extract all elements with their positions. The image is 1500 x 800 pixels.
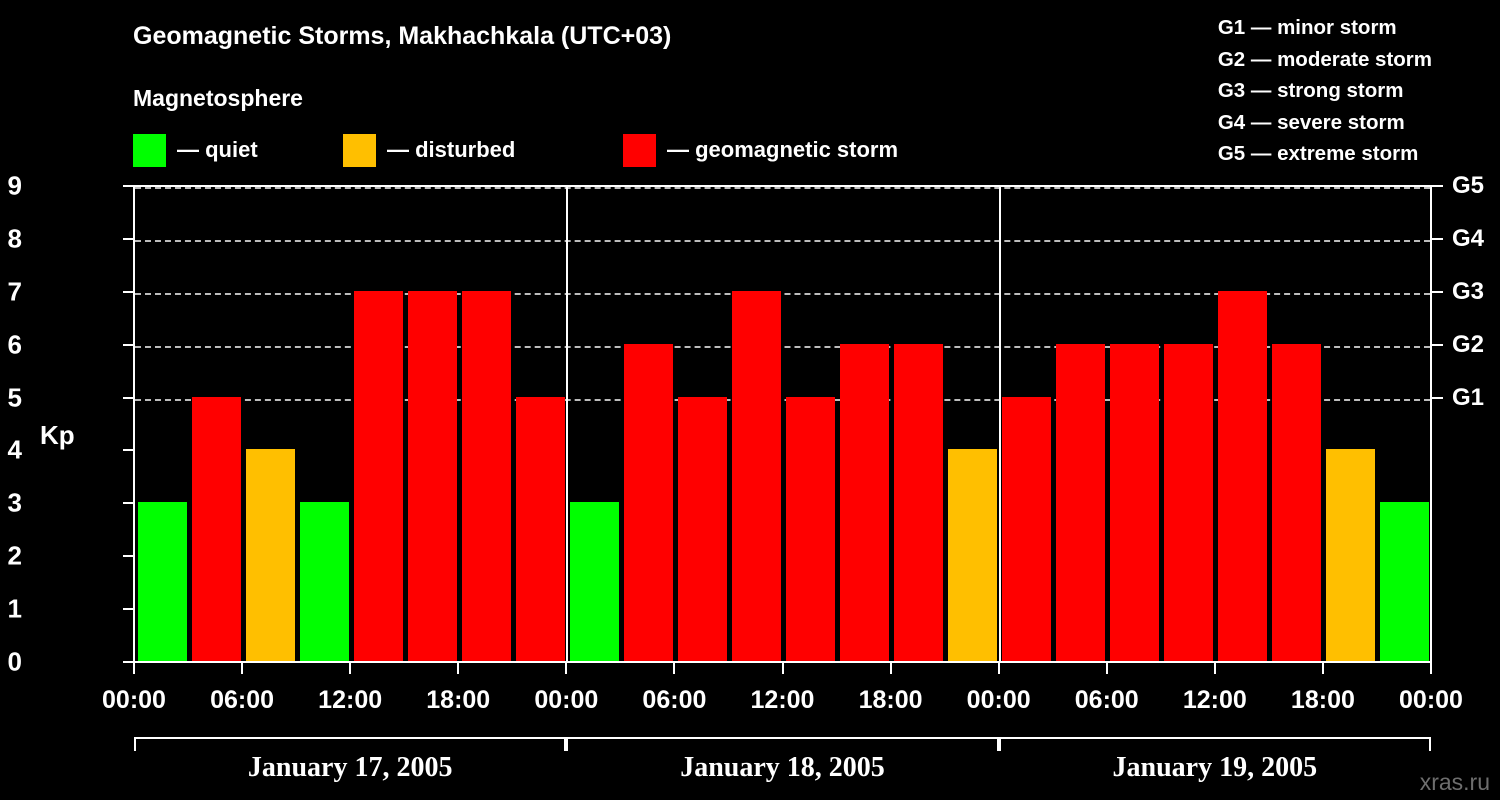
g-tick-mark-G4 — [1432, 238, 1443, 240]
y-tick-mark-5 — [123, 397, 133, 399]
y-tick-mark-9 — [123, 185, 133, 187]
x-tick-mark-7 — [890, 663, 892, 674]
y-tick-label-5: 5 — [0, 382, 22, 413]
g-tick-label-G5: G5 — [1452, 172, 1484, 200]
watermark: xras.ru — [1420, 769, 1490, 796]
x-tick-label-1: 06:00 — [210, 686, 274, 715]
x-tick-label-5: 06:00 — [642, 686, 706, 715]
bar-day3-slot8 — [1380, 502, 1429, 661]
legend-item-storm: — geomagnetic storm — [623, 131, 898, 169]
bar-day1-slot6 — [408, 291, 457, 661]
plot-area — [133, 185, 1432, 663]
bar-day3-slot6 — [1272, 344, 1321, 661]
g-tick-mark-G5 — [1432, 185, 1443, 187]
page-title: Geomagnetic Storms, Makhachkala (UTC+03) — [133, 22, 671, 51]
y-tick-label-9: 9 — [0, 171, 22, 202]
bar-day1-slot5 — [354, 291, 403, 661]
date-label-3: January 19, 2005 — [999, 752, 1431, 784]
bar-day2-slot8 — [948, 449, 997, 661]
bar-day2-slot4 — [732, 291, 781, 661]
x-tick-label-7: 18:00 — [859, 686, 923, 715]
bar-day3-slot5 — [1218, 291, 1267, 661]
x-tick-mark-3 — [457, 663, 459, 674]
legend-swatch-storm-icon — [623, 134, 656, 167]
y-tick-label-0: 0 — [0, 647, 22, 678]
gscale-line-1: G1 — minor storm — [1218, 12, 1432, 44]
g-tick-mark-G3 — [1432, 291, 1443, 293]
y-tick-mark-6 — [123, 344, 133, 346]
date-bracket-3 — [999, 737, 1431, 751]
bar-day3-slot7 — [1326, 449, 1375, 661]
x-tick-mark-11 — [1322, 663, 1324, 674]
g-tick-label-G1: G1 — [1452, 384, 1484, 412]
date-bracket-2 — [566, 737, 998, 751]
x-tick-mark-10 — [1214, 663, 1216, 674]
g-tick-label-G4: G4 — [1452, 225, 1484, 253]
bar-day1-slot8 — [516, 397, 565, 661]
gscale-line-3: G3 — strong storm — [1218, 75, 1432, 107]
y-tick-label-3: 3 — [0, 488, 22, 519]
y-tick-mark-7 — [123, 291, 133, 293]
y-tick-mark-8 — [123, 238, 133, 240]
x-tick-label-9: 06:00 — [1075, 686, 1139, 715]
y-tick-label-1: 1 — [0, 594, 22, 625]
gscale-line-5: G5 — extreme storm — [1218, 138, 1432, 170]
x-tick-mark-5 — [673, 663, 675, 674]
x-tick-label-3: 18:00 — [426, 686, 490, 715]
bar-day2-slot2 — [624, 344, 673, 661]
x-tick-mark-12 — [1430, 663, 1432, 674]
bar-day2-slot5 — [786, 397, 835, 661]
geomagnetic-storm-chart: Geomagnetic Storms, Makhachkala (UTC+03)… — [0, 0, 1500, 800]
gscale-legend: G1 — minor stormG2 — moderate stormG3 — … — [1218, 12, 1432, 170]
y-tick-mark-2 — [123, 555, 133, 557]
x-tick-mark-0 — [133, 663, 135, 674]
bar-day1-slot1 — [138, 502, 187, 661]
y-tick-mark-3 — [123, 502, 133, 504]
legend-label-quiet: — quiet — [177, 137, 258, 163]
bar-day1-slot3 — [246, 449, 295, 661]
x-tick-label-10: 12:00 — [1183, 686, 1247, 715]
day-divider-1 — [566, 187, 568, 661]
y-tick-mark-1 — [123, 608, 133, 610]
bar-day3-slot3 — [1110, 344, 1159, 661]
legend-heading: Magnetosphere — [133, 85, 303, 112]
x-tick-label-8: 00:00 — [967, 686, 1031, 715]
legend-label-storm: — geomagnetic storm — [667, 137, 898, 163]
x-tick-label-0: 00:00 — [102, 686, 166, 715]
legend-label-disturbed: — disturbed — [387, 137, 515, 163]
y-axis-title: Kp — [40, 420, 75, 451]
y-tick-label-8: 8 — [0, 223, 22, 254]
legend-swatch-disturbed-icon — [343, 134, 376, 167]
bar-day3-slot2 — [1056, 344, 1105, 661]
y-tick-label-6: 6 — [0, 329, 22, 360]
bar-day2-slot7 — [894, 344, 943, 661]
date-label-2: January 18, 2005 — [566, 752, 998, 784]
gscale-line-2: G2 — moderate storm — [1218, 44, 1432, 76]
bar-day1-slot7 — [462, 291, 511, 661]
x-tick-mark-9 — [1106, 663, 1108, 674]
bar-day1-slot4 — [300, 502, 349, 661]
bar-day2-slot6 — [840, 344, 889, 661]
g-tick-label-G2: G2 — [1452, 331, 1484, 359]
x-tick-label-4: 00:00 — [534, 686, 598, 715]
legend-item-quiet: — quiet — [133, 131, 258, 169]
g-tick-mark-G1 — [1432, 397, 1443, 399]
day-divider-2 — [999, 187, 1001, 661]
x-tick-label-2: 12:00 — [318, 686, 382, 715]
date-bracket-1 — [134, 737, 566, 751]
legend-item-disturbed: — disturbed — [343, 131, 515, 169]
gridline-kp-8 — [135, 240, 1430, 242]
x-tick-label-12: 00:00 — [1399, 686, 1463, 715]
legend-swatch-quiet-icon — [133, 134, 166, 167]
y-tick-mark-4 — [123, 449, 133, 451]
gscale-line-4: G4 — severe storm — [1218, 107, 1432, 139]
y-tick-mark-0 — [123, 661, 133, 663]
x-tick-mark-8 — [998, 663, 1000, 674]
y-tick-label-4: 4 — [0, 435, 22, 466]
g-tick-mark-G2 — [1432, 344, 1443, 346]
bar-day2-slot3 — [678, 397, 727, 661]
gridline-kp-9 — [135, 187, 1430, 189]
y-tick-label-2: 2 — [0, 541, 22, 572]
plot-inner — [135, 187, 1430, 661]
x-tick-mark-2 — [349, 663, 351, 674]
g-tick-label-G3: G3 — [1452, 278, 1484, 306]
bar-day1-slot2 — [192, 397, 241, 661]
y-tick-label-7: 7 — [0, 276, 22, 307]
date-label-1: January 17, 2005 — [134, 752, 566, 784]
x-tick-mark-6 — [782, 663, 784, 674]
x-tick-mark-4 — [565, 663, 567, 674]
x-tick-mark-1 — [241, 663, 243, 674]
bar-day3-slot4 — [1164, 344, 1213, 661]
bar-day3-slot1 — [1002, 397, 1051, 661]
bar-day2-slot1 — [570, 502, 619, 661]
x-tick-label-6: 12:00 — [751, 686, 815, 715]
x-tick-label-11: 18:00 — [1291, 686, 1355, 715]
